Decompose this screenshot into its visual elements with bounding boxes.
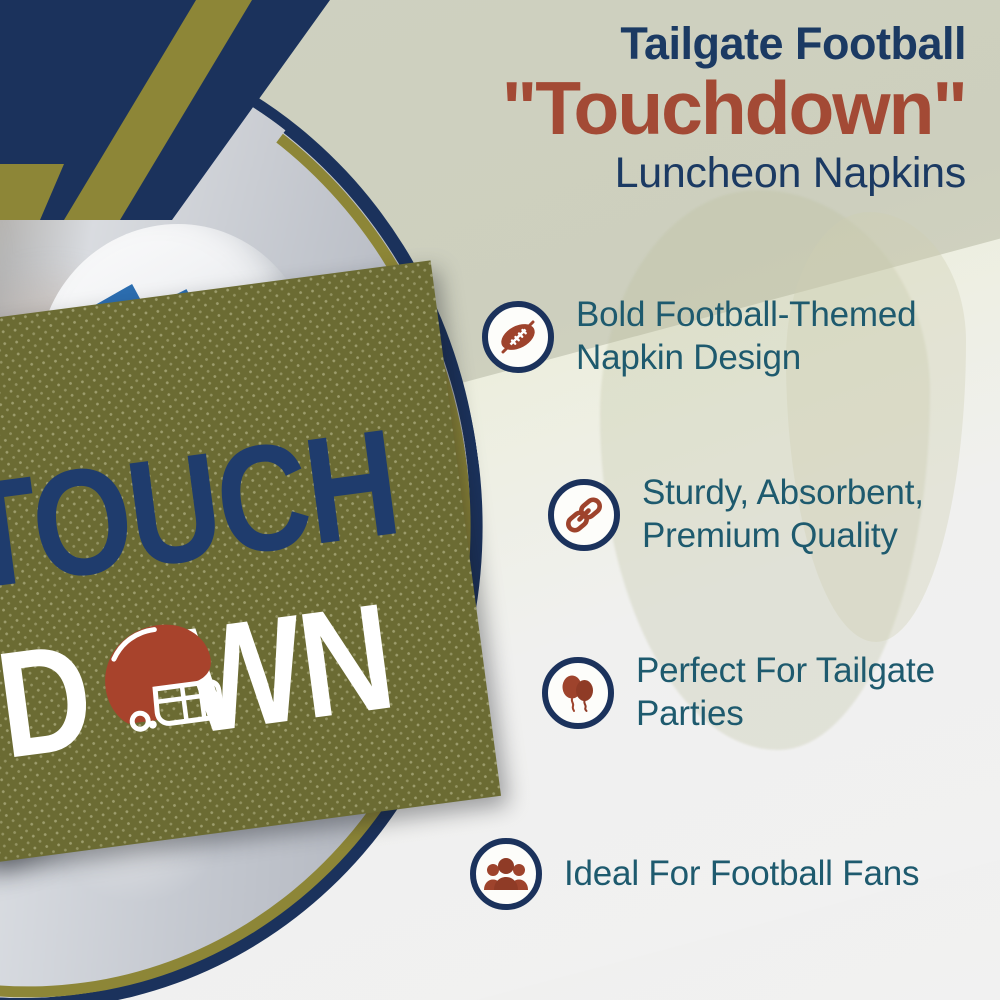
feature-item-sturdy-absorbent: Sturdy, Absorbent, Premium Quality: [548, 472, 924, 557]
football-helmet-icon: [83, 607, 249, 757]
page-title: Tailgate Football "Touchdown" Luncheon N…: [346, 20, 966, 197]
feature-badge-quality: [548, 479, 620, 551]
feature-item-bold-football-themed: Bold Football-Themed Napkin Design: [482, 294, 916, 379]
feature-label: Ideal For Football Fans: [564, 853, 919, 896]
feature-badge-parties: [542, 657, 614, 729]
feature-badge-fans: [470, 838, 542, 910]
feature-badge-football: [482, 301, 554, 373]
napkin-product: TOUCH DOWN: [0, 260, 501, 863]
napkin-artwork: TOUCH DOWN: [0, 260, 501, 863]
title-line-2: "Touchdown": [346, 71, 966, 146]
chain-link-icon: [563, 494, 605, 536]
people-group-icon: [484, 854, 528, 894]
product-marketing-image: TOUCH DOWN Tailgate Football "Touchdown"…: [0, 0, 1000, 1000]
title-line-3: Luncheon Napkins: [346, 150, 966, 197]
feature-item-ideal-for-fans: Ideal For Football Fans: [470, 838, 919, 910]
feature-label: Bold Football-Themed Napkin Design: [576, 294, 916, 379]
balloons-icon: [557, 672, 599, 714]
football-icon: [497, 316, 539, 358]
feature-label: Sturdy, Absorbent, Premium Quality: [642, 472, 924, 557]
title-line-1: Tailgate Football: [346, 20, 966, 69]
feature-item-perfect-for-tailgate: Perfect For Tailgate Parties: [542, 650, 935, 735]
feature-label: Perfect For Tailgate Parties: [636, 650, 935, 735]
